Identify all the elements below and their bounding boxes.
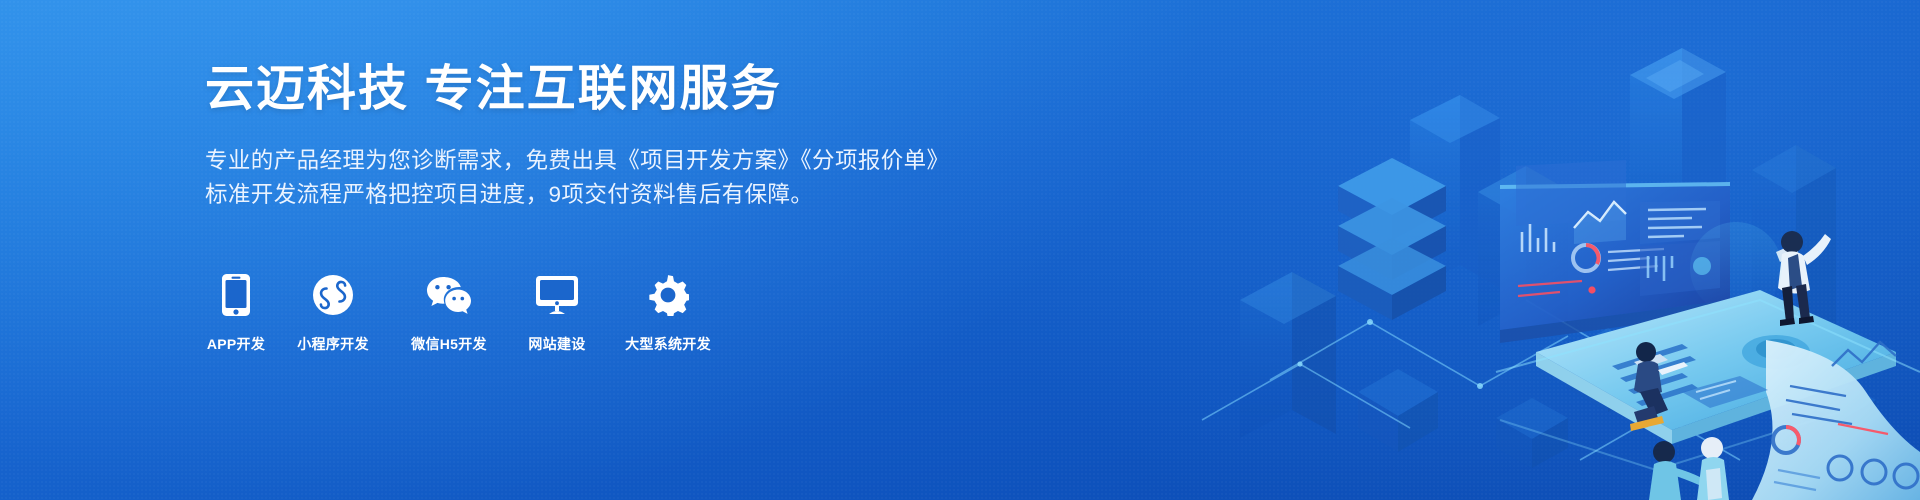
person-standing (1776, 231, 1831, 326)
person-with-laptop (1630, 342, 1688, 431)
city-buildings (1240, 48, 1876, 468)
service-item-large-system[interactable]: 大型系统开发 (615, 272, 721, 354)
service-label: APP开发 (207, 334, 265, 354)
server-stack (1338, 158, 1446, 320)
service-label: 网站建设 (528, 334, 585, 354)
service-item-app[interactable]: APP开发 (205, 272, 267, 354)
base-glow (1496, 300, 1920, 470)
floating-panel (1682, 376, 1768, 408)
banner-subtitle: 专业的产品经理为您诊断需求，免费出具《项目开发方案》《分项报价单》 标准开发流程… (205, 144, 925, 212)
person-pair (1649, 437, 1729, 500)
monitor-icon (535, 272, 579, 318)
service-list: APP开发 小程序开发 (205, 272, 721, 354)
tablet-platform (1536, 290, 1896, 444)
page-title: 云迈科技 专注互联网服务 (205, 60, 925, 120)
subtitle-line-2: 标准开发流程严格把控项目进度，9项交付资料售后有保障。 (205, 178, 925, 212)
service-label: 小程序开发 (297, 334, 369, 354)
data-sheet (1752, 340, 1920, 500)
service-item-wechat-h5[interactable]: 微信H5开发 (399, 272, 499, 354)
service-label: 大型系统开发 (625, 334, 711, 354)
smartphone-icon (221, 272, 251, 318)
wechat-icon (426, 272, 472, 318)
banner-text-block: 云迈科技 专注互联网服务 专业的产品经理为您诊断需求，免费出具《项目开发方案》《… (205, 60, 925, 212)
mini-program-icon (312, 272, 354, 318)
service-label: 微信H5开发 (411, 334, 487, 354)
circuit-lines (1202, 300, 1740, 460)
dashboard-screen (1500, 160, 1730, 343)
isometric-data-city-illustration (940, 0, 1920, 500)
gear-icon (647, 272, 689, 318)
subtitle-line-1: 专业的产品经理为您诊断需求，免费出具《项目开发方案》《分项报价单》 (205, 144, 925, 178)
hero-banner: 云迈科技 专注互联网服务 专业的产品经理为您诊断需求，免费出具《项目开发方案》《… (0, 0, 1920, 500)
service-item-website[interactable]: 网站建设 (517, 272, 597, 354)
service-item-mini-program[interactable]: 小程序开发 (285, 272, 381, 354)
